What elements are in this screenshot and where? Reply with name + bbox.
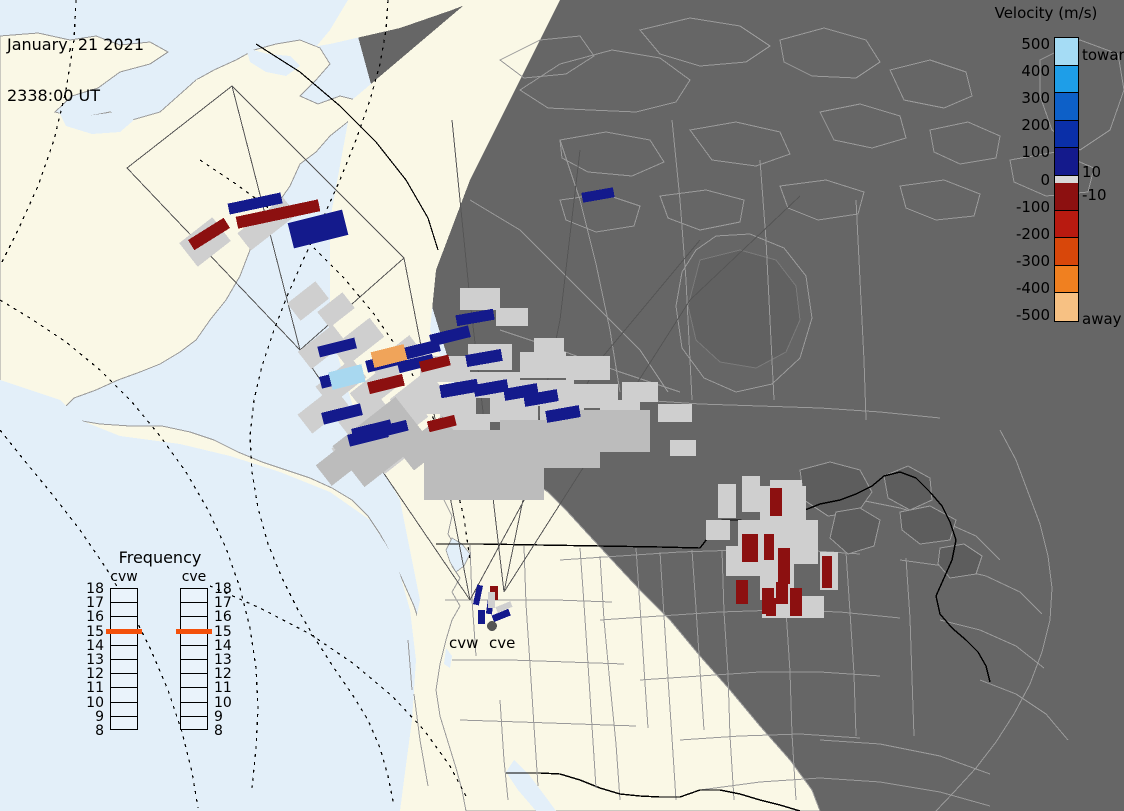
station-label-cve: cve (489, 634, 515, 652)
radar-map-view: January, 21 2021 2338:00 UT Velocity (m/… (0, 0, 1124, 811)
frequency-legend: Frequency cvw18171615141312111098cve1817… (80, 548, 240, 788)
colorbar-label-pos-threshold: 10 (1082, 165, 1101, 180)
colorbar-tick-neg100: -100 (1016, 200, 1050, 215)
colorbar-label-toward: toward (1082, 48, 1124, 63)
colorbar-band-3 (1055, 121, 1078, 149)
frequency-cell (111, 589, 137, 603)
colorbar-band-1 (1055, 66, 1078, 94)
colorbar-band-0 (1055, 38, 1078, 66)
timestamp-time: 2338:00 UT (7, 87, 144, 104)
frequency-cell (111, 660, 137, 674)
colorbar-band-6 (1055, 211, 1078, 239)
frequency-scale-label-12: 12 (84, 667, 104, 681)
frequency-marker-cve (176, 629, 212, 634)
frequency-cell (111, 632, 137, 646)
frequency-cell (181, 632, 207, 646)
frequency-scale-label-15: 15 (84, 625, 104, 639)
frequency-scale-label-14: 14 (214, 639, 232, 653)
frequency-scale-label-16: 16 (84, 610, 104, 624)
frequency-cell (181, 717, 207, 731)
timestamp-date: January, 21 2021 (7, 36, 144, 53)
colorbar-tick-300: 300 (1021, 91, 1050, 106)
colorbar-tick-neg300: -300 (1016, 254, 1050, 269)
frequency-scale-label-9: 9 (214, 710, 223, 724)
frequency-marker-cvw (106, 629, 142, 634)
frequency-scale-label-10: 10 (214, 696, 232, 710)
frequency-cell (181, 603, 207, 617)
frequency-scale-label-13: 13 (214, 653, 232, 667)
frequency-cell (111, 674, 137, 688)
frequency-scale-label-10: 10 (84, 696, 104, 710)
frequency-cell (181, 703, 207, 717)
colorbar-tick-0: 0 (1040, 173, 1050, 188)
frequency-scale-label-9: 9 (84, 710, 104, 724)
colorbar-tick-neg400: -400 (1016, 281, 1050, 296)
frequency-scale-label-18: 18 (84, 582, 104, 596)
colorbar-zero-band (1055, 176, 1078, 183)
frequency-title: Frequency (80, 548, 240, 567)
colorbar-tick-neg500: -500 (1016, 308, 1050, 323)
colorbar-tick-500: 500 (1021, 37, 1050, 52)
colorbar-title: Velocity (m/s) (976, 4, 1116, 22)
colorbar-tick-200: 200 (1021, 118, 1050, 133)
frequency-cell (181, 674, 207, 688)
frequency-scale-label-16: 16 (214, 610, 232, 624)
frequency-cell (181, 646, 207, 660)
colorbar-label-away: away (1082, 312, 1122, 327)
colorbar-band-4 (1055, 148, 1078, 176)
colorbar-band-5 (1055, 183, 1078, 211)
frequency-cell (111, 603, 137, 617)
frequency-cell (111, 703, 137, 717)
frequency-scale-label-8: 8 (84, 724, 104, 738)
frequency-scale-label-11: 11 (214, 681, 232, 695)
frequency-scale-label-14: 14 (84, 639, 104, 653)
frequency-cell (181, 688, 207, 702)
timestamp: January, 21 2021 2338:00 UT (7, 2, 144, 138)
frequency-scale-label-13: 13 (84, 653, 104, 667)
frequency-column-cvw (110, 588, 138, 730)
velocity-colorbar-legend: Velocity (m/s) 5004003002001000-100-200-… (966, 0, 1124, 340)
frequency-cell (181, 589, 207, 603)
colorbar-tick-400: 400 (1021, 64, 1050, 79)
frequency-scale-label-17: 17 (84, 596, 104, 610)
frequency-column-header-cvw: cvw (102, 569, 146, 585)
frequency-scale-label-8: 8 (214, 724, 223, 738)
colorbar-label-neg-threshold: -10 (1082, 188, 1107, 203)
frequency-cell (181, 660, 207, 674)
colorbar-band-8 (1055, 266, 1078, 294)
colorbar-tick-neg200: -200 (1016, 227, 1050, 242)
colorbar-tick-100: 100 (1021, 145, 1050, 160)
frequency-cell (111, 688, 137, 702)
frequency-column-cve (180, 588, 208, 730)
colorbar-band-9 (1055, 293, 1078, 321)
colorbar-gradient (1054, 37, 1079, 322)
colorbar-band-7 (1055, 238, 1078, 266)
frequency-scale-label-11: 11 (84, 681, 104, 695)
frequency-scale-label-15: 15 (214, 625, 232, 639)
station-label-cvw: cvw (449, 634, 478, 652)
frequency-cell (111, 717, 137, 731)
colorbar-band-2 (1055, 93, 1078, 121)
frequency-scale-label-17: 17 (214, 596, 232, 610)
frequency-column-header-cve: cve (172, 569, 216, 585)
frequency-scale-label-12: 12 (214, 667, 232, 681)
frequency-cell (111, 646, 137, 660)
frequency-scale-label-18: 18 (214, 582, 232, 596)
